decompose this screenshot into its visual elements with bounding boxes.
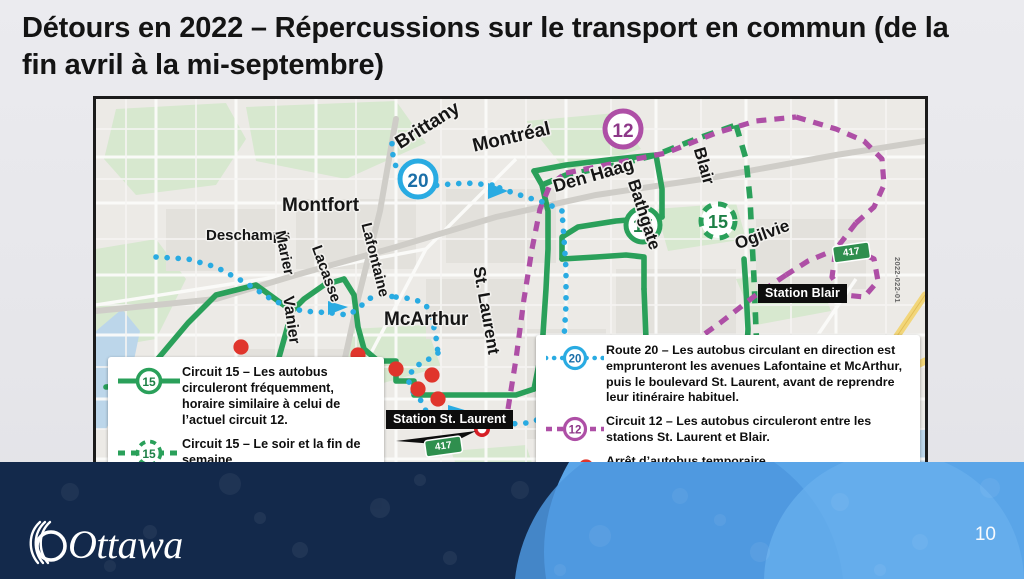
circuit-15-solid-icon: 15 bbox=[116, 364, 182, 395]
svg-text:20: 20 bbox=[569, 354, 582, 366]
svg-text:15: 15 bbox=[708, 212, 728, 232]
legend-item-title: Circuit 12 bbox=[606, 414, 662, 428]
page-number: 10 bbox=[975, 524, 996, 546]
legend-item-title: Circuit 15 bbox=[182, 365, 239, 379]
legend-item-dash: – bbox=[658, 343, 672, 357]
svg-text:12: 12 bbox=[569, 425, 582, 437]
circuit-12-dashed-icon: 12 bbox=[544, 413, 606, 442]
map-canvas: 20 12 15 15 Brittany bbox=[96, 99, 925, 514]
svg-text:15: 15 bbox=[142, 447, 156, 461]
ottawa-logo-mark bbox=[24, 519, 68, 565]
station-label-blair: Station Blair bbox=[758, 284, 847, 303]
page-title: Détours en 2022 – Répercussions sur le t… bbox=[22, 10, 982, 84]
legend-left: 15 Circuit 15 – Les autobus circuleront … bbox=[108, 357, 384, 477]
legend-item-title: Circuit 15 bbox=[182, 437, 239, 451]
legend-item-dash: – bbox=[662, 414, 676, 428]
svg-text:15: 15 bbox=[633, 216, 653, 236]
legend-item-dash: – bbox=[239, 365, 253, 379]
document-number: 2022-022-01 bbox=[893, 257, 902, 303]
map-figure: 20 12 15 15 Brittany bbox=[93, 96, 928, 517]
legend-item-circuit-15-solid: 15 Circuit 15 – Les autobus circuleront … bbox=[116, 364, 374, 429]
legend-item-route-20: 20 Route 20 – Les autobus circulant en d… bbox=[544, 342, 910, 406]
ottawa-logo: Ottawa bbox=[24, 519, 183, 565]
legend-item-circuit-12: 12 Circuit 12 – Les autobus circuleront … bbox=[544, 413, 910, 446]
svg-text:12: 12 bbox=[612, 121, 633, 142]
ottawa-wordmark: Ottawa bbox=[68, 525, 183, 565]
route-20-dotted-icon: 20 bbox=[544, 342, 606, 371]
legend-item-text: Circuit 12 – Les autobus circuleront ent… bbox=[606, 413, 910, 446]
slide-footer: Ottawa 10 bbox=[0, 462, 1024, 579]
svg-text:15: 15 bbox=[142, 375, 156, 389]
svg-text:20: 20 bbox=[407, 171, 428, 192]
legend-item-text: Route 20 – Les autobus circulant en dire… bbox=[606, 342, 910, 406]
station-label-st-laurent: Station St. Laurent bbox=[386, 410, 513, 429]
legend-item-dash: – bbox=[239, 437, 253, 451]
legend-item-title: Route 20 bbox=[606, 343, 658, 357]
legend-item-text: Circuit 15 – Les autobus circuleront fré… bbox=[182, 364, 374, 429]
